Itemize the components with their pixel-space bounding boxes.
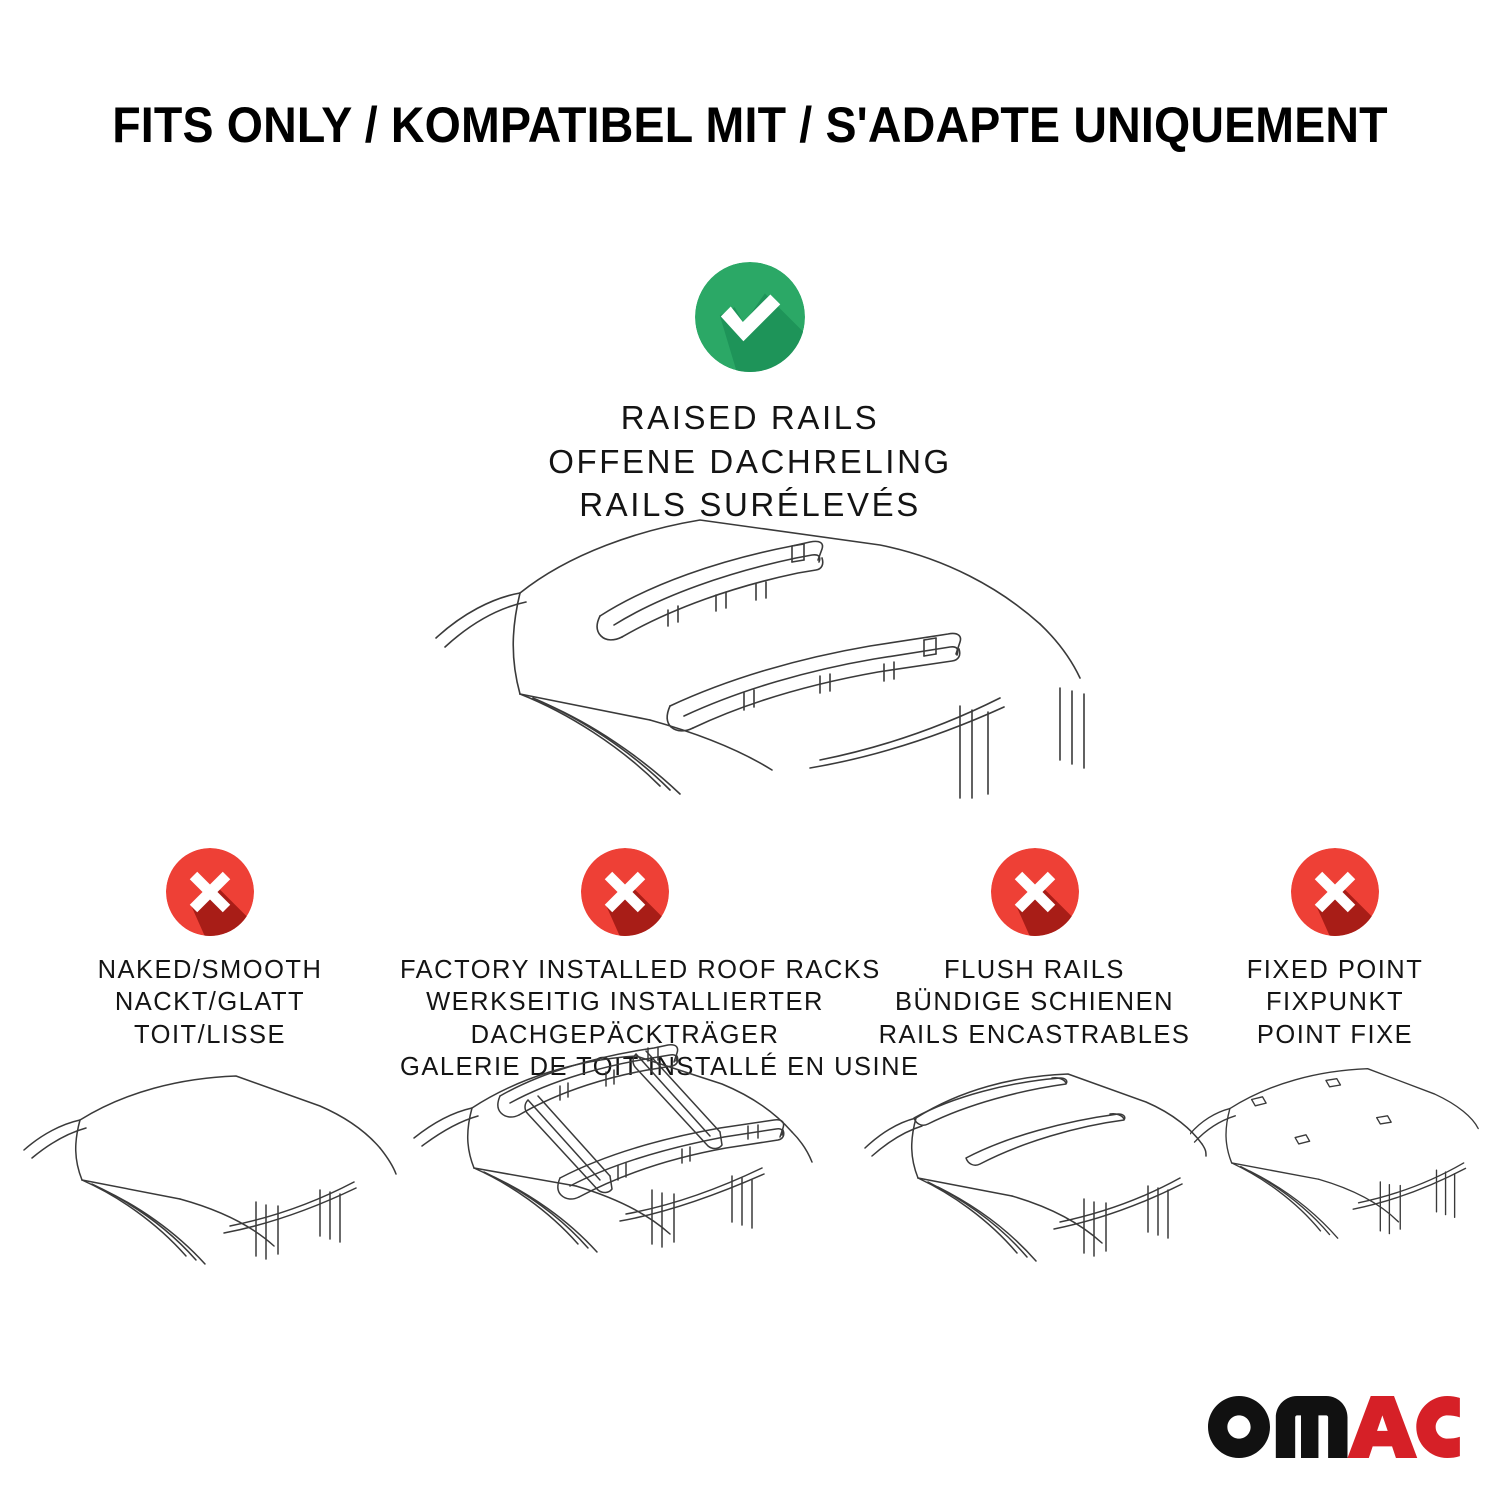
not-fits-caption: FLUSH RAILS BÜNDIGE SCHIENEN RAILS ENCAS… bbox=[862, 954, 1207, 1051]
caption-line-2: FIXPUNKT bbox=[1190, 986, 1480, 1018]
not-fits-item-naked-smooth: NAKED/SMOOTH NACKT/GLATT TOIT/LISSE bbox=[20, 848, 400, 1051]
cross-circle-icon bbox=[581, 848, 669, 936]
fits-section: RAISED RAILS OFFENE DACHRELING RAILS SUR… bbox=[0, 262, 1500, 527]
not-fits-section: NAKED/SMOOTH NACKT/GLATT TOIT/LISSE bbox=[0, 848, 1500, 1468]
page-title: FITS ONLY / KOMPATIBEL MIT / S'ADAPTE UN… bbox=[53, 96, 1448, 154]
caption-line-1: FIXED POINT bbox=[1190, 954, 1480, 986]
cross-circle-icon bbox=[166, 848, 254, 936]
cross-circle-icon bbox=[1291, 848, 1379, 936]
caption-line-2: WERKSEITIG INSTALLIERTER bbox=[400, 986, 850, 1018]
fits-caption-line-1: RAISED RAILS bbox=[0, 396, 1500, 440]
not-fits-item-fixed-point: FIXED POINT FIXPUNKT POINT FIXE bbox=[1190, 848, 1480, 1051]
car-roof-flush-rails-illustration bbox=[862, 1056, 1207, 1306]
omac-logo bbox=[1208, 1396, 1460, 1458]
not-fits-caption: NAKED/SMOOTH NACKT/GLATT TOIT/LISSE bbox=[20, 954, 400, 1051]
caption-line-1: NAKED/SMOOTH bbox=[20, 954, 400, 986]
car-roof-fixed-point-illustration bbox=[1190, 1056, 1480, 1283]
car-roof-factory-roof-racks-illustration bbox=[400, 1030, 850, 1306]
caption-line-3: RAILS ENCASTRABLES bbox=[862, 1019, 1207, 1051]
caption-line-3: TOIT/LISSE bbox=[20, 1019, 400, 1051]
check-circle-icon bbox=[695, 262, 805, 372]
not-fits-item-factory-roof-racks: FACTORY INSTALLED ROOF RACKS WERKSEITIG … bbox=[400, 848, 850, 1084]
fits-caption-line-2: OFFENE DACHRELING bbox=[0, 440, 1500, 484]
caption-line-1: FACTORY INSTALLED ROOF RACKS bbox=[400, 954, 850, 986]
caption-line-2: BÜNDIGE SCHIENEN bbox=[862, 986, 1207, 1018]
car-roof-raised-rails-illustration bbox=[400, 498, 1100, 828]
car-roof-naked-smooth-illustration bbox=[20, 1056, 400, 1306]
header: FITS ONLY / KOMPATIBEL MIT / S'ADAPTE UN… bbox=[0, 96, 1500, 154]
caption-line-3: POINT FIXE bbox=[1190, 1019, 1480, 1051]
not-fits-item-flush-rails: FLUSH RAILS BÜNDIGE SCHIENEN RAILS ENCAS… bbox=[862, 848, 1207, 1051]
not-fits-caption: FIXED POINT FIXPUNKT POINT FIXE bbox=[1190, 954, 1480, 1051]
caption-line-2: NACKT/GLATT bbox=[20, 986, 400, 1018]
caption-line-1: FLUSH RAILS bbox=[862, 954, 1207, 986]
cross-circle-icon bbox=[991, 848, 1079, 936]
